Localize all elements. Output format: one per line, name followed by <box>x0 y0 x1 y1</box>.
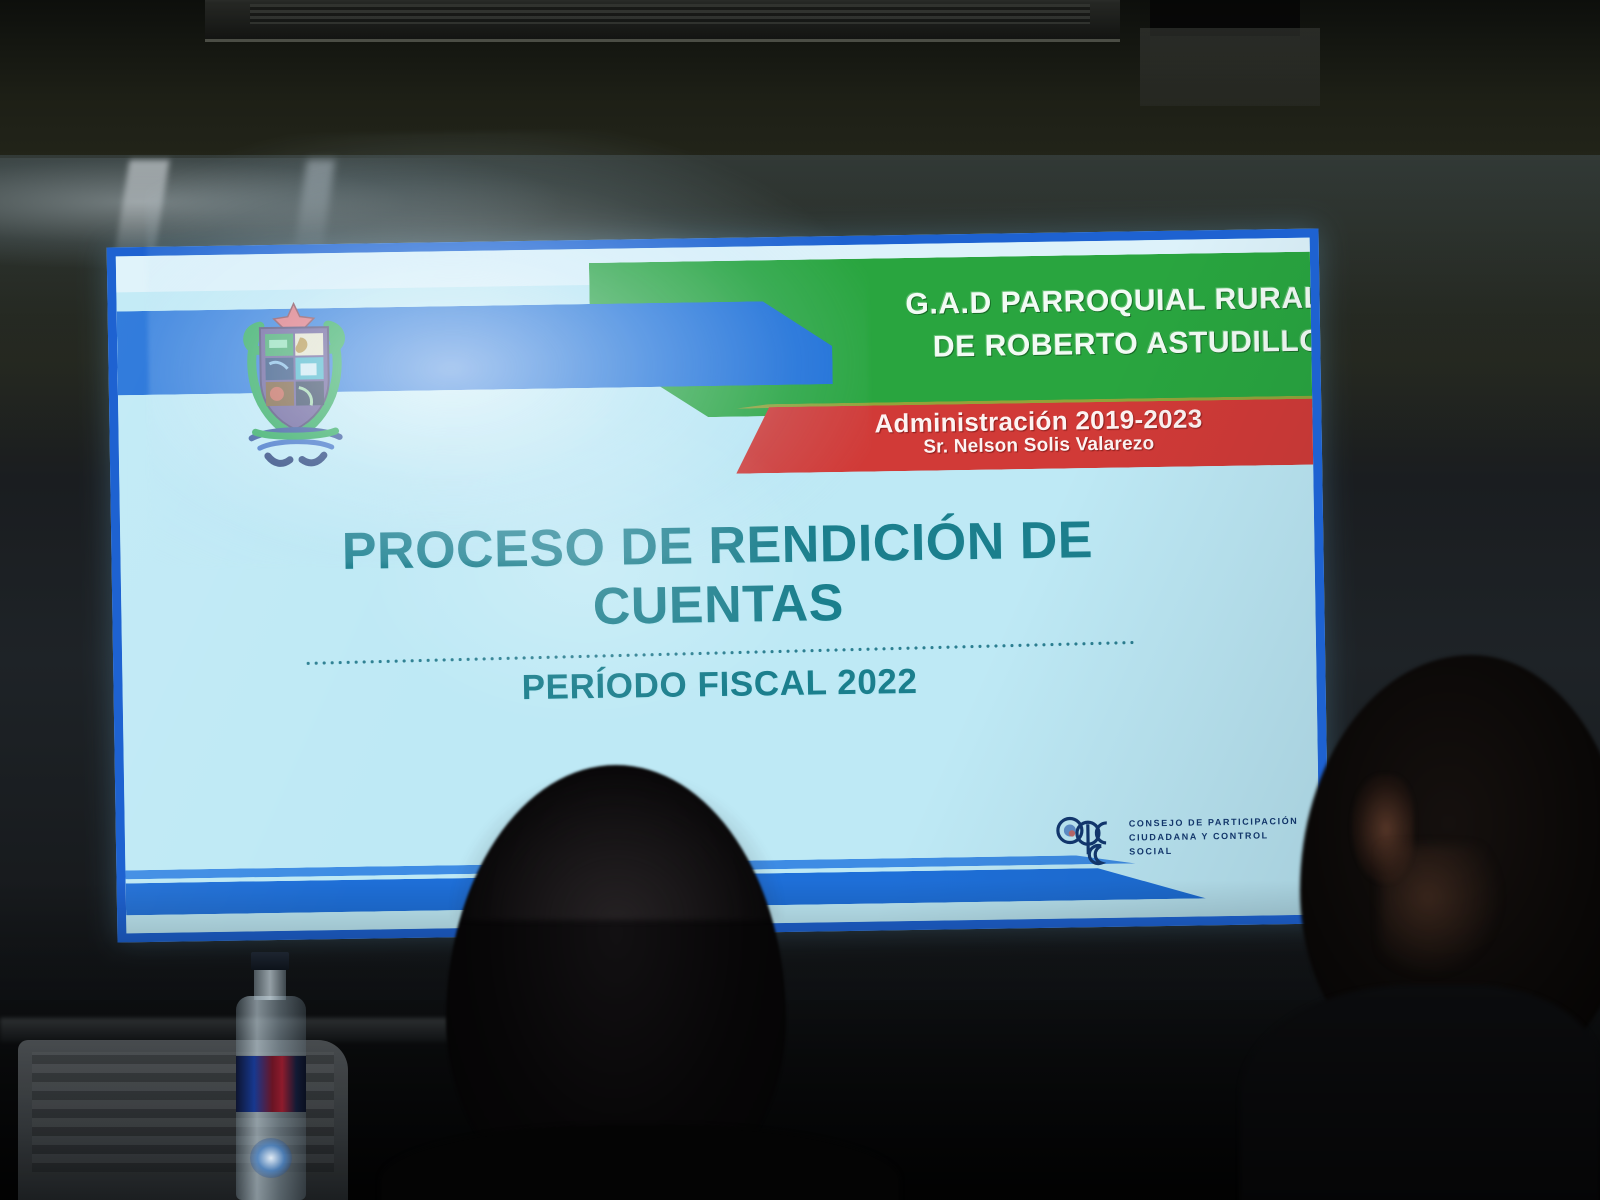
bottle-neck <box>254 966 286 1000</box>
coat-of-arms-icon <box>219 288 370 472</box>
water-bottle <box>228 952 314 1200</box>
cpccs-monogram-icon <box>1055 810 1122 869</box>
silhouette-shoulder-right <box>1240 985 1600 1200</box>
air-vent <box>205 0 1120 42</box>
cpccs-line-2: CIUDADANA Y CONTROL SOCIAL <box>1129 829 1305 860</box>
administration-block: Administración 2019-2023 Sr. Nelson Soli… <box>758 404 1319 461</box>
bottle-logo-icon <box>250 1138 292 1178</box>
bottle-cap <box>251 952 289 970</box>
silhouette-neck-right <box>1380 845 1500 975</box>
bottle-label <box>236 1056 306 1112</box>
wall-mounted-box <box>1140 28 1320 106</box>
photo-scene: G.A.D PARROQUIAL RURAL DE ROBERTO ASTUDI… <box>0 0 1600 1200</box>
cpccs-wordmark: CONSEJO DE PARTICIPACIÓN CIUDADANA Y CON… <box>1129 815 1306 860</box>
org-line-2: DE ROBERTO ASTUDILLO <box>777 320 1324 371</box>
slide-title-block: PROCESO DE RENDICIÓN DE CUENTAS PERÍODO … <box>120 508 1317 714</box>
organization-title: G.A.D PARROQUIAL RURAL DE ROBERTO ASTUDI… <box>776 277 1323 371</box>
cpccs-line-1: CONSEJO DE PARTICIPACIÓN <box>1129 815 1305 832</box>
cpccs-logo: CONSEJO DE PARTICIPACIÓN CIUDADANA Y CON… <box>1055 805 1306 871</box>
silhouette-head-center-hair <box>452 770 782 920</box>
slide-subtitle: PERÍODO FISCAL 2022 <box>122 655 1316 714</box>
